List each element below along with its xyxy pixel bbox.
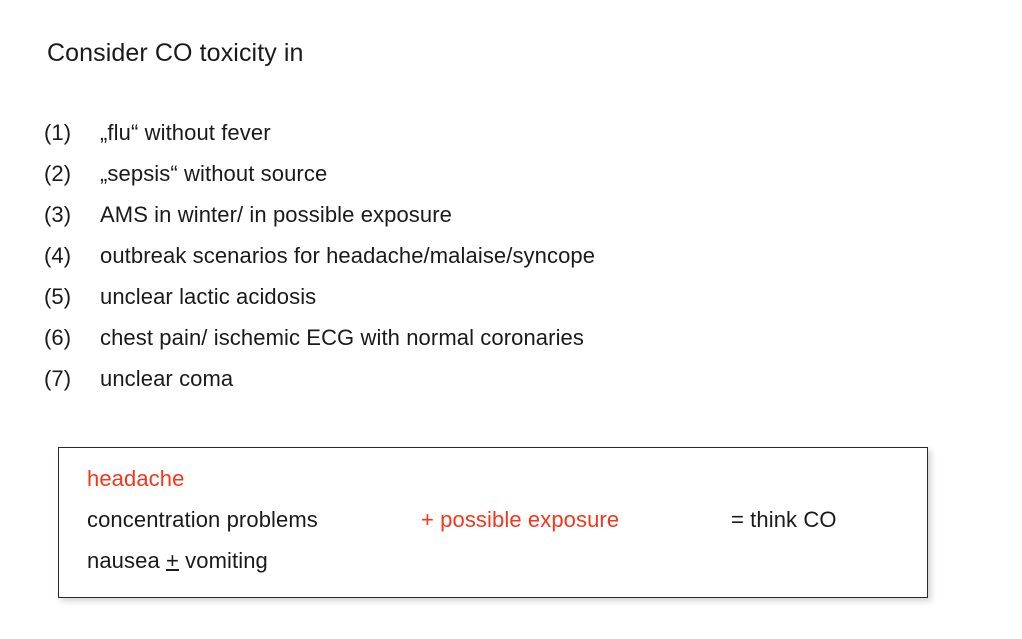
list-item: (3) AMS in winter/ in possible exposure	[44, 202, 944, 243]
summary-row: headache	[87, 466, 917, 507]
list-item-index: (6)	[44, 325, 100, 351]
list-item-index: (3)	[44, 202, 100, 228]
list-item-label: AMS in winter/ in possible exposure	[100, 202, 452, 228]
summary-callout-box: headache concentration problems + possib…	[58, 447, 928, 598]
summary-row: nausea + vomiting	[87, 548, 917, 589]
list-item: (4) outbreak scenarios for headache/mala…	[44, 243, 944, 284]
list-item: (5) unclear lactic acidosis	[44, 284, 944, 325]
list-item-label: chest pain/ ischemic ECG with normal cor…	[100, 325, 584, 351]
list-item: (1) „flu“ without fever	[44, 120, 944, 161]
slide-canvas: Consider CO toxicity in (1) „flu“ withou…	[0, 0, 1022, 639]
list-item-index: (1)	[44, 120, 100, 146]
summary-symptom-suffix: vomiting	[179, 548, 268, 573]
list-item: (6) chest pain/ ischemic ECG with normal…	[44, 325, 944, 366]
summary-exposure: + possible exposure	[421, 507, 731, 533]
list-item-label: unclear lactic acidosis	[100, 284, 316, 310]
summary-row: concentration problems + possible exposu…	[87, 507, 917, 548]
criteria-list: (1) „flu“ without fever (2) „sepsis“ wit…	[44, 120, 944, 407]
page-title: Consider CO toxicity in	[47, 39, 304, 68]
summary-symptom-prefix: nausea	[87, 548, 166, 573]
list-item-label: outbreak scenarios for headache/malaise/…	[100, 243, 595, 269]
list-item-index: (4)	[44, 243, 100, 269]
summary-symptom: concentration problems	[87, 507, 421, 533]
plus-minus-operator: +	[166, 548, 179, 573]
summary-symptom: headache	[87, 466, 421, 492]
list-item: (7) unclear coma	[44, 366, 944, 407]
list-item-label: unclear coma	[100, 366, 233, 392]
summary-callout-content: headache concentration problems + possib…	[87, 466, 917, 587]
list-item-index: (7)	[44, 366, 100, 392]
summary-symptom: nausea + vomiting	[87, 548, 421, 574]
list-item-label: „sepsis“ without source	[100, 161, 327, 187]
summary-conclusion: = think CO	[731, 507, 837, 533]
list-item: (2) „sepsis“ without source	[44, 161, 944, 202]
list-item-index: (5)	[44, 284, 100, 310]
list-item-label: „flu“ without fever	[100, 120, 271, 146]
list-item-index: (2)	[44, 161, 100, 187]
